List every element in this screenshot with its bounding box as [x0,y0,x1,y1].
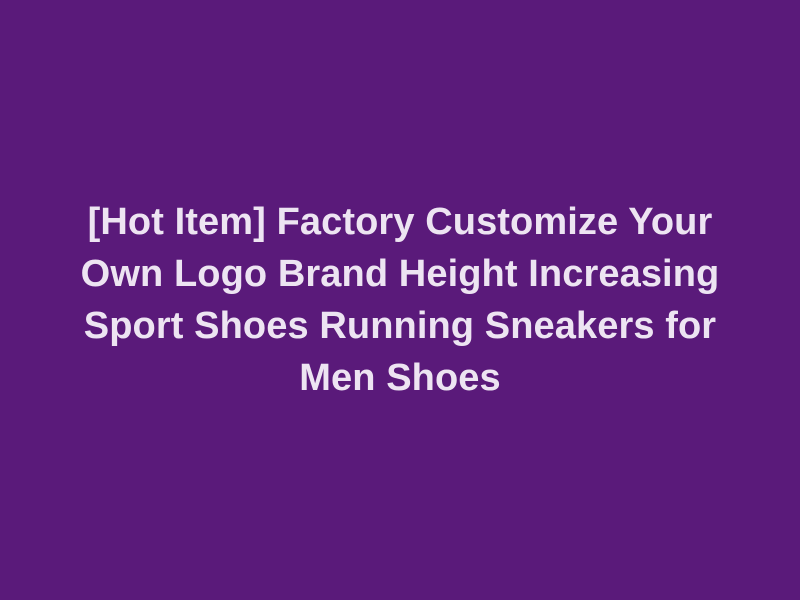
product-title-card: [Hot Item] Factory Customize Your Own Lo… [0,0,800,600]
title-block: [Hot Item] Factory Customize Your Own Lo… [80,196,720,404]
page-title: [Hot Item] Factory Customize Your Own Lo… [80,196,720,404]
